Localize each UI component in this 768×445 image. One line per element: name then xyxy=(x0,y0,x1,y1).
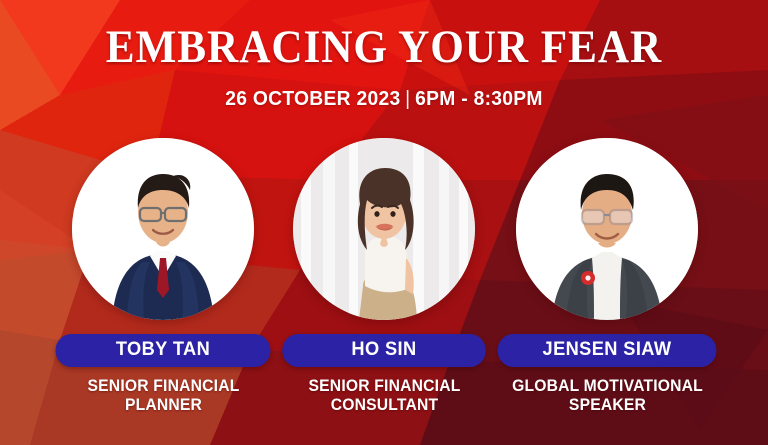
speaker-name-badge: TOBY TAN xyxy=(55,334,270,367)
speaker-role-line1: SENIOR FINANCIAL xyxy=(308,377,460,395)
portrait-ho-sin xyxy=(293,138,475,320)
event-date: 26 OCTOBER 2023 xyxy=(225,87,400,110)
avatar xyxy=(293,138,475,320)
speaker-role-line2: CONSULTANT xyxy=(330,396,438,414)
speaker-card: HO SIN SENIOR FINANCIAL CONSULTANT xyxy=(269,138,499,415)
event-datetime: 26 OCTOBER 2023|6PM - 8:30PM xyxy=(23,71,745,111)
speaker-role: SENIOR FINANCIAL PLANNER xyxy=(61,377,265,415)
speaker-role-line2: SPEAKER xyxy=(568,396,645,414)
portrait-jensen-siaw xyxy=(516,138,698,320)
speaker-card: JENSEN SIAW GLOBAL MOTIVATIONAL SPEAKER xyxy=(492,138,722,415)
portrait-toby-tan xyxy=(72,138,254,320)
speaker-name-badge: HO SIN xyxy=(282,334,486,367)
page-title: EMBRACING YOUR FEAR xyxy=(31,0,738,71)
speaker-role: GLOBAL MOTIVATIONAL SPEAKER xyxy=(505,377,709,415)
event-poster: EMBRACING YOUR FEAR 26 OCTOBER 2023|6PM … xyxy=(0,0,768,445)
speaker-role-line2: PLANNER xyxy=(124,396,201,414)
avatar xyxy=(516,138,698,320)
speaker-card: TOBY TAN SENIOR FINANCIAL PLANNER xyxy=(48,138,278,415)
speaker-role: SENIOR FINANCIAL CONSULTANT xyxy=(282,377,486,415)
speaker-role-line1: SENIOR FINANCIAL xyxy=(87,377,239,395)
event-time: 6PM - 8:30PM xyxy=(415,87,543,110)
datetime-separator: | xyxy=(400,87,415,110)
avatar xyxy=(72,138,254,320)
poster-header: EMBRACING YOUR FEAR 26 OCTOBER 2023|6PM … xyxy=(0,0,768,111)
speaker-role-line1: GLOBAL MOTIVATIONAL xyxy=(512,377,703,395)
speaker-name-badge: JENSEN SIAW xyxy=(498,334,717,367)
speaker-list: TOBY TAN SENIOR FINANCIAL PLANNER xyxy=(0,138,768,438)
